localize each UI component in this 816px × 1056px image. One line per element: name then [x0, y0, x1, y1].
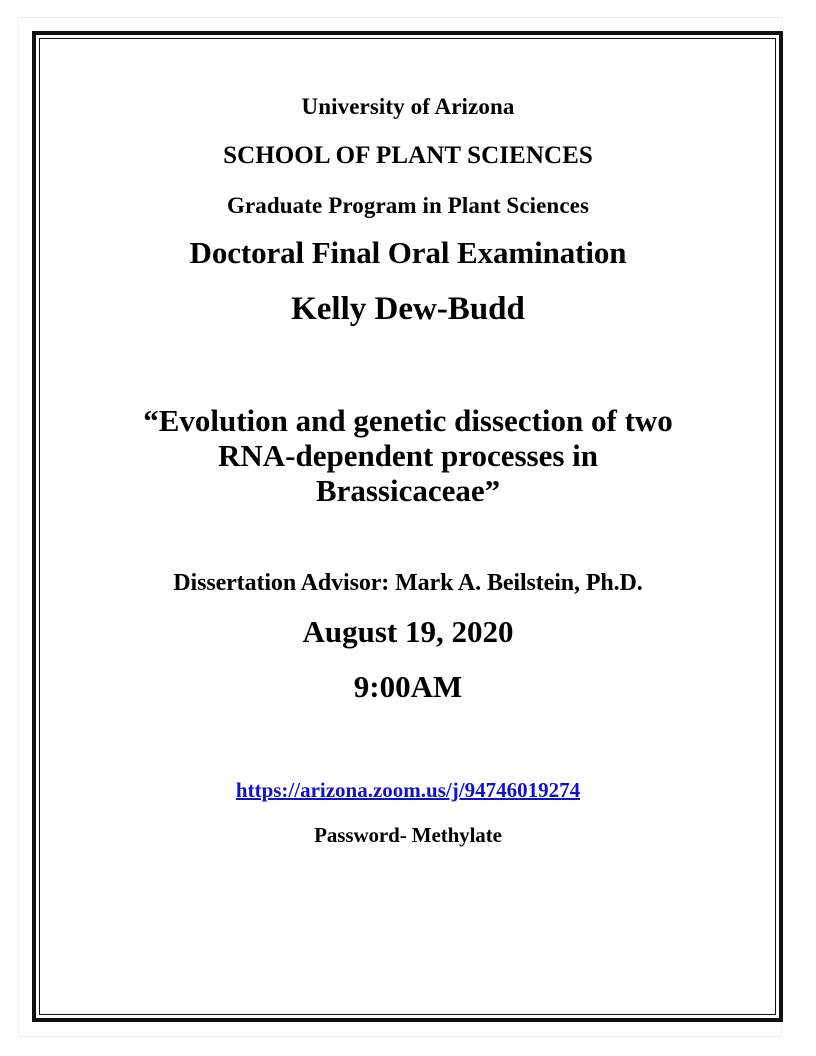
dissertation-title: “Evolution and genetic dissection of two…: [44, 404, 772, 508]
heading-block: University of Arizona SCHOOL OF PLANT SC…: [44, 43, 772, 328]
event-time: 9:00AM: [44, 670, 772, 705]
advisor-name: Dissertation Advisor: Mark A. Beilstein,…: [44, 570, 772, 597]
program-name: Graduate Program in Plant Sciences: [44, 193, 772, 219]
dissertation-title-line-2: RNA-dependent processes in: [44, 439, 772, 474]
dissertation-title-line-3: Brassicaceae”: [44, 474, 772, 509]
event-type: Doctoral Final Oral Examination: [44, 236, 772, 271]
institution-name: University of Arizona: [44, 94, 772, 120]
event-date: August 19, 2020: [44, 615, 772, 650]
meeting-link-row: https://arizona.zoom.us/j/94746019274: [44, 779, 772, 803]
dissertation-title-line-1: “Evolution and genetic dissection of two: [44, 404, 772, 439]
meeting-password: Password- Methylate: [44, 824, 772, 848]
advisor-and-schedule-block: Dissertation Advisor: Mark A. Beilstein,…: [44, 570, 772, 704]
announcement-content: University of Arizona SCHOOL OF PLANT SC…: [44, 43, 772, 1010]
announcement-page: University of Arizona SCHOOL OF PLANT SC…: [0, 0, 816, 1056]
zoom-meeting-link[interactable]: https://arizona.zoom.us/j/94746019274: [236, 778, 580, 802]
school-name: SCHOOL OF PLANT SCIENCES: [44, 142, 772, 170]
candidate-name: Kelly Dew-Budd: [44, 291, 772, 328]
meeting-access-block: https://arizona.zoom.us/j/94746019274 Pa…: [44, 779, 772, 848]
